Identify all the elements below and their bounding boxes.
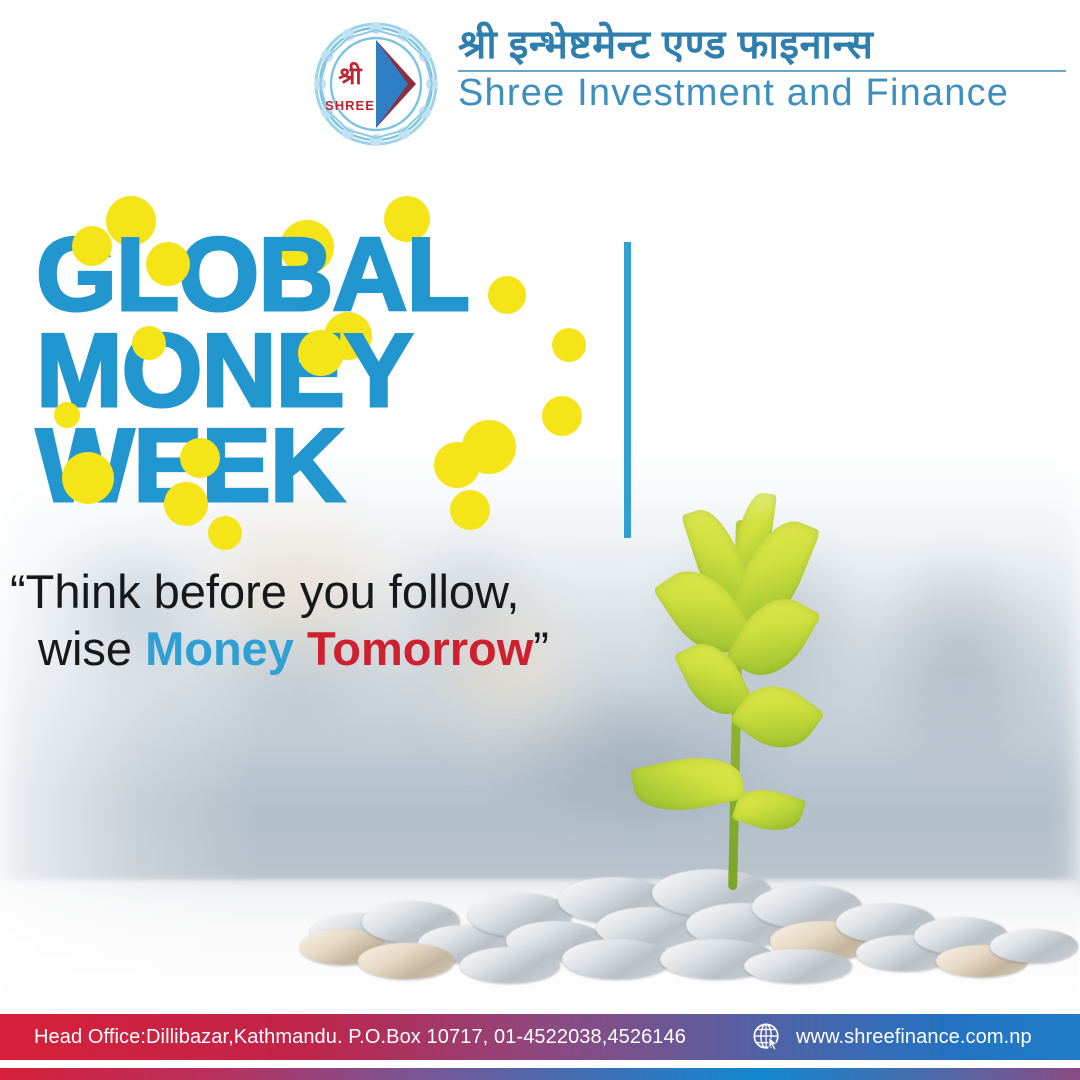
- brand-name-english: Shree Investment and Finance: [458, 74, 1068, 114]
- globe-cursor-icon: [752, 1022, 782, 1052]
- headline-line-1: GLOBAL: [36, 228, 616, 324]
- tagline-prefix: wise: [38, 622, 145, 675]
- headline-line-3: WEEK: [36, 419, 616, 515]
- decorative-dot: [462, 420, 516, 474]
- footer-accent-strip: [0, 1068, 1080, 1080]
- tagline-line-1: “Think before you follow,: [10, 563, 650, 620]
- decorative-dot: [298, 330, 344, 376]
- tagline-money-word: Money: [145, 622, 294, 675]
- brand-wordmark: श्री इन्भेष्टमेन्ट एण्ड फाइनान्स Shree I…: [458, 24, 1068, 114]
- decorative-dot: [146, 242, 190, 286]
- shree-logo-icon: श्री SHREE: [312, 22, 440, 146]
- brand-header: श्री SHREE श्री इन्भेष्टमेन्ट एण्ड फाइना…: [0, 0, 1080, 150]
- poster-canvas: श्री SHREE श्री इन्भेष्टमेन्ट एण्ड फाइना…: [0, 0, 1080, 1080]
- logo-shree-en: SHREE: [325, 98, 375, 113]
- decorative-dot: [208, 516, 242, 550]
- decorative-dot: [72, 226, 112, 266]
- footer-website-url[interactable]: www.shreefinance.com.np: [796, 1026, 1032, 1049]
- tagline-space: [294, 622, 307, 675]
- decorative-dot: [132, 326, 166, 360]
- global-money-week-headline: GLOBAL MONEY WEEK: [36, 228, 616, 538]
- brand-name-nepali: श्री इन्भेष्टमेन्ट एण्ड फाइनान्स: [458, 24, 1068, 66]
- tagline-tomorrow-word: Tomorrow: [307, 622, 533, 675]
- tagline-line-2: wise Money Tomorrow”: [10, 620, 650, 677]
- sapling-illustration: [640, 490, 880, 910]
- decorative-dot: [180, 438, 220, 478]
- tagline-block: “Think before you follow, wise Money Tom…: [10, 563, 650, 678]
- footer-website-group[interactable]: www.shreefinance.com.np: [752, 1022, 1032, 1052]
- decorative-dot: [62, 452, 114, 504]
- tagline-suffix: ”: [533, 622, 549, 675]
- vertical-divider: [624, 242, 631, 538]
- footer-address: Head Office:Dillibazar,Kathmandu. P.O.Bo…: [34, 1026, 686, 1049]
- decorative-dot: [54, 402, 80, 428]
- footer-contact-bar: Head Office:Dillibazar,Kathmandu. P.O.Bo…: [0, 1014, 1080, 1060]
- decorative-dot: [164, 482, 208, 526]
- logo-shree-np: श्री: [338, 62, 362, 90]
